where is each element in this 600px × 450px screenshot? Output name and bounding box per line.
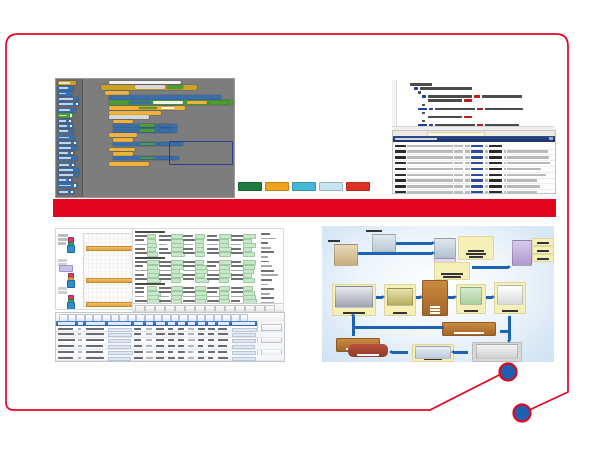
code-block[interactable] (105, 91, 129, 95)
node-label-terminal (366, 230, 382, 232)
seat-tile[interactable] (317, 136, 327, 144)
log-segment (471, 150, 483, 152)
seat-tile[interactable] (264, 103, 274, 111)
block-socket[interactable] (153, 101, 183, 105)
block-socket[interactable] (159, 124, 171, 127)
seat-tile[interactable] (330, 78, 340, 86)
table-cell (86, 339, 104, 341)
block-socket[interactable] (187, 101, 207, 105)
seat-tile[interactable] (251, 78, 261, 86)
form-input-field[interactable] (219, 252, 231, 257)
palette-block[interactable] (58, 178, 72, 182)
palette-block[interactable] (58, 81, 76, 85)
seat-tile[interactable] (291, 120, 301, 128)
seat-tile[interactable] (317, 103, 327, 111)
log-segment (395, 162, 406, 164)
table-cell (86, 351, 103, 353)
seat-tile[interactable] (278, 144, 288, 152)
seat-tile[interactable] (330, 144, 340, 152)
form-input-field[interactable] (219, 278, 229, 283)
form-field-label (135, 296, 144, 298)
seat-tile[interactable] (264, 78, 274, 86)
code-block[interactable] (113, 128, 177, 132)
seat-tile[interactable] (357, 120, 367, 128)
close-icon[interactable] (549, 137, 553, 140)
code-token (477, 108, 483, 111)
palette-block[interactable] (58, 97, 79, 101)
flow-arrow-head (420, 295, 423, 299)
table-cell (146, 333, 152, 335)
seat-tile[interactable] (304, 161, 314, 169)
panel-form-grid[interactable] (132, 228, 284, 312)
table-cell (78, 328, 81, 330)
palette-block-label (59, 157, 71, 159)
seat-tile[interactable] (357, 144, 367, 152)
form-toolbar-button[interactable] (245, 305, 255, 312)
seat-tile[interactable] (278, 103, 288, 111)
seat-tile[interactable] (291, 169, 301, 177)
seat-tile[interactable] (238, 95, 248, 103)
table-cell (156, 345, 164, 347)
log-segment (407, 156, 453, 158)
seat-tile[interactable] (304, 169, 314, 177)
table-cell (208, 328, 215, 330)
log-segment (504, 156, 506, 158)
seat-tile[interactable] (251, 86, 261, 94)
palette-block[interactable] (58, 156, 77, 160)
log-segment (489, 168, 502, 170)
form-input-field[interactable] (243, 278, 255, 283)
seat-tile[interactable] (344, 128, 354, 136)
block-socket[interactable] (129, 101, 151, 105)
seat-tile[interactable] (251, 153, 261, 161)
seat-tile[interactable] (264, 144, 274, 152)
blocks-palette[interactable] (56, 79, 83, 197)
seat-tile[interactable] (370, 169, 380, 177)
table-cell (78, 345, 82, 347)
seat-tile[interactable] (278, 95, 288, 103)
form-toolbar-button[interactable] (195, 305, 205, 312)
block-socket[interactable] (139, 129, 155, 132)
log-segment (395, 179, 406, 181)
seat-tile[interactable] (330, 161, 340, 169)
seat-tile[interactable] (370, 111, 380, 119)
block-socket[interactable] (139, 143, 155, 146)
panel-log-console[interactable] (392, 130, 556, 194)
node-shelving-rack[interactable] (512, 240, 532, 266)
node-label (502, 310, 518, 312)
node-order-notice-card[interactable] (458, 236, 494, 260)
seat-tile[interactable] (304, 103, 314, 111)
node-label (466, 253, 486, 255)
form-toolbar-button[interactable] (175, 305, 185, 312)
seat-tile[interactable] (304, 111, 314, 119)
panel-seat-status-grid[interactable] (238, 78, 386, 178)
log-segment (454, 145, 463, 147)
log-segment (489, 162, 502, 164)
palette-block[interactable] (58, 141, 77, 145)
node-label (441, 273, 463, 275)
palette-block[interactable] (58, 113, 73, 117)
log-segment (471, 174, 483, 176)
seat-tile[interactable] (238, 78, 248, 86)
seat-tile[interactable] (238, 128, 248, 136)
seat-tile[interactable] (278, 169, 288, 177)
seat-tile[interactable] (278, 153, 288, 161)
seat-tile[interactable] (238, 120, 248, 128)
code-block[interactable] (109, 111, 161, 115)
form-toolbar-button[interactable] (205, 305, 215, 312)
seat-tile[interactable] (317, 161, 327, 169)
form-field-label (135, 235, 147, 237)
node-receiving-system-a[interactable] (434, 238, 456, 258)
palette-block[interactable] (58, 163, 75, 167)
palette-block[interactable] (58, 168, 79, 172)
seat-tile[interactable] (330, 111, 340, 119)
node-warehouse-notice-card[interactable] (434, 262, 470, 280)
table-cell (156, 333, 165, 335)
seat-tile[interactable] (238, 136, 248, 144)
seat-tile[interactable] (370, 78, 380, 86)
node-order-terminal[interactable] (372, 234, 396, 252)
seat-tile[interactable] (251, 103, 261, 111)
seat-tile[interactable] (291, 86, 301, 94)
form-toolbar-button[interactable] (165, 305, 175, 312)
seat-tile[interactable] (291, 153, 301, 161)
seat-tile[interactable] (357, 86, 367, 94)
block-socket[interactable] (139, 157, 155, 160)
seat-tile[interactable] (251, 136, 261, 144)
node-quality-clip[interactable] (460, 287, 482, 305)
form-input-field[interactable] (243, 252, 255, 257)
gantt-node-marker[interactable] (67, 302, 75, 310)
node-rack-label-b[interactable] (532, 246, 554, 254)
node-forklift-clip[interactable] (387, 288, 413, 306)
seat-tile[interactable] (317, 120, 327, 128)
block-socket[interactable] (209, 101, 229, 105)
gantt-node-marker[interactable] (67, 280, 75, 288)
seat-tile[interactable] (370, 161, 380, 169)
seat-tile[interactable] (317, 86, 327, 94)
block-socket[interactable] (135, 85, 165, 88)
palette-block[interactable] (58, 173, 79, 177)
code-block[interactable] (109, 106, 185, 110)
seat-tile[interactable] (317, 128, 327, 136)
table-row[interactable] (56, 361, 284, 362)
node-barcode-clip[interactable] (497, 285, 523, 305)
form-toolbar-button[interactable] (145, 305, 155, 312)
code-block[interactable] (109, 162, 149, 166)
block-socket[interactable] (167, 85, 183, 88)
gantt-node-marker[interactable] (67, 245, 75, 253)
seat-tile[interactable] (251, 144, 261, 152)
palette-block[interactable] (58, 135, 75, 139)
table-cell (78, 351, 82, 353)
code-block[interactable] (113, 124, 177, 128)
form-summary-line (261, 270, 274, 272)
code-block[interactable] (109, 95, 221, 99)
seat-tile[interactable] (264, 86, 274, 94)
code-block[interactable] (101, 85, 197, 90)
palette-block[interactable] (58, 108, 76, 112)
seat-tile[interactable] (370, 153, 380, 161)
flow-arrow-head (432, 251, 435, 255)
node-barcode-scan-clip[interactable] (476, 344, 518, 359)
seat-tile[interactable] (370, 86, 380, 94)
code-block[interactable] (109, 133, 137, 137)
form-toolbar-button[interactable] (155, 305, 165, 312)
seat-tile[interactable] (291, 161, 301, 169)
seat-tile[interactable] (291, 136, 301, 144)
log-segment (507, 185, 540, 187)
form-summary-line (261, 293, 270, 295)
log-segment (504, 162, 506, 164)
form-summary-line (261, 284, 268, 286)
seat-tile[interactable] (238, 161, 248, 169)
seat-tile[interactable] (330, 86, 340, 94)
palette-block[interactable] (58, 86, 74, 90)
seat-tile[interactable] (330, 169, 340, 177)
seat-tile[interactable] (344, 144, 354, 152)
gantt-rail-label (58, 291, 67, 294)
seat-tile[interactable] (238, 153, 248, 161)
table-cell (218, 339, 228, 341)
seat-tile[interactable] (344, 103, 354, 111)
seat-tile[interactable] (278, 111, 288, 119)
block-socket[interactable] (139, 124, 155, 127)
seat-tile[interactable] (304, 136, 314, 144)
seat-tile[interactable] (238, 111, 248, 119)
seat-tile[interactable] (370, 136, 380, 144)
block-socket[interactable] (159, 129, 171, 132)
seat-tile[interactable] (370, 144, 380, 152)
seat-tile[interactable] (330, 103, 340, 111)
node-supplier-desk[interactable] (334, 244, 358, 266)
seat-tile[interactable] (317, 95, 327, 103)
form-summary-line (261, 242, 268, 244)
node-label (454, 332, 484, 334)
form-field-label (207, 291, 217, 293)
log-segment (395, 145, 406, 147)
column-header (108, 322, 131, 324)
code-block[interactable] (109, 81, 181, 84)
node-nonconforming-zone[interactable] (442, 322, 496, 336)
palette-block[interactable] (58, 124, 73, 128)
block-socket[interactable] (139, 107, 157, 110)
column-header (86, 322, 105, 324)
seat-tile[interactable] (278, 128, 288, 136)
code-block[interactable] (109, 100, 233, 105)
form-field-label (135, 239, 144, 241)
flow-arrow (392, 351, 408, 354)
seat-tile[interactable] (251, 128, 261, 136)
log-segment (407, 162, 453, 164)
form-toolbar-button[interactable] (185, 305, 195, 312)
palette-block[interactable] (58, 146, 77, 150)
seat-tile[interactable] (330, 95, 340, 103)
seat-tile[interactable] (344, 95, 354, 103)
seat-tile[interactable] (251, 95, 261, 103)
seat-tile[interactable] (291, 95, 301, 103)
seat-tile[interactable] (357, 136, 367, 144)
column-header (208, 322, 215, 324)
code-block[interactable] (109, 148, 135, 152)
seat-tile[interactable] (304, 144, 314, 152)
palette-block[interactable] (58, 129, 74, 133)
seat-tile[interactable] (264, 111, 274, 119)
seat-tile[interactable] (317, 153, 327, 161)
flow-arrow-head (382, 295, 385, 299)
log-segment (504, 185, 506, 187)
seat-tile[interactable] (357, 111, 367, 119)
seat-tile[interactable] (304, 86, 314, 94)
palette-block[interactable] (58, 119, 72, 123)
blocks-canvas[interactable] (83, 79, 234, 197)
seat-tile[interactable] (264, 169, 274, 177)
seat-tile[interactable] (344, 86, 354, 94)
form-section-header (135, 257, 165, 259)
seat-tile[interactable] (344, 136, 354, 144)
palette-block[interactable] (58, 183, 77, 187)
seat-tile[interactable] (264, 153, 274, 161)
seat-tile[interactable] (264, 128, 274, 136)
form-field-label (135, 291, 144, 293)
block-socket[interactable] (161, 107, 175, 110)
seat-tile[interactable] (278, 78, 288, 86)
form-toolbar-button[interactable] (255, 305, 265, 312)
log-row[interactable] (393, 189, 555, 194)
seat-tile[interactable] (238, 144, 248, 152)
seat-tile[interactable] (357, 161, 367, 169)
palette-block-label (59, 115, 67, 117)
seat-tile[interactable] (304, 78, 314, 86)
column-header (78, 322, 83, 324)
code-block[interactable] (109, 115, 149, 119)
form-toolbar-button[interactable] (225, 305, 235, 312)
seat-tile[interactable] (330, 153, 340, 161)
code-block[interactable] (113, 120, 133, 124)
node-rack-label-c[interactable] (532, 254, 554, 262)
palette-block[interactable] (58, 102, 79, 106)
seat-tile[interactable] (370, 128, 380, 136)
seat-tile[interactable] (344, 169, 354, 177)
palette-block-label (59, 179, 66, 181)
seat-tile[interactable] (291, 78, 301, 86)
palette-block-label (59, 87, 68, 89)
seat-tile[interactable] (344, 78, 354, 86)
seat-tile[interactable] (330, 136, 340, 144)
seat-tile[interactable] (317, 169, 327, 177)
seat-tile[interactable] (238, 86, 248, 94)
code-token (428, 95, 472, 98)
seat-tile[interactable] (344, 161, 354, 169)
seat-tile[interactable] (370, 95, 380, 103)
palette-block[interactable] (58, 91, 72, 95)
node-rack-label-a[interactable] (532, 238, 554, 246)
seat-tile[interactable] (304, 153, 314, 161)
log-segment (507, 162, 550, 164)
seat-tile[interactable] (264, 136, 274, 144)
node-inbound-complete[interactable] (348, 344, 388, 357)
seat-tile[interactable] (344, 153, 354, 161)
seat-tile[interactable] (357, 169, 367, 177)
seat-tile[interactable] (238, 169, 248, 177)
seat-tile[interactable] (330, 128, 340, 136)
seat-tile[interactable] (264, 161, 274, 169)
seat-tile[interactable] (264, 120, 274, 128)
palette-block[interactable] (58, 151, 74, 155)
seat-tile[interactable] (370, 103, 380, 111)
panel-data-grid[interactable] (55, 312, 285, 362)
palette-block-label (59, 109, 70, 111)
seat-tile[interactable] (291, 111, 301, 119)
seat-tile[interactable] (238, 103, 248, 111)
panel-flow-diagram[interactable] (322, 226, 554, 362)
form-input-field[interactable] (195, 252, 205, 257)
form-field-label (231, 248, 241, 250)
form-input-field[interactable] (171, 278, 181, 283)
form-toolbar-button[interactable] (135, 305, 145, 312)
seat-tile[interactable] (278, 120, 288, 128)
palette-block[interactable] (58, 190, 74, 194)
seat-tile[interactable] (357, 128, 367, 136)
seat-tile[interactable] (291, 103, 301, 111)
seat-tile[interactable] (344, 111, 354, 119)
seat-tile[interactable] (251, 120, 261, 128)
seat-tile[interactable] (304, 95, 314, 103)
form-input-field[interactable] (147, 252, 158, 257)
seat-tile[interactable] (357, 95, 367, 103)
node-truck-clip[interactable] (335, 286, 373, 308)
seat-tile[interactable] (370, 120, 380, 128)
seat-tile[interactable] (317, 111, 327, 119)
seat-tile[interactable] (291, 128, 301, 136)
seat-tile[interactable] (304, 128, 314, 136)
form-toolbar-button[interactable] (265, 305, 275, 312)
seat-tile[interactable] (264, 95, 274, 103)
seat-tile[interactable] (317, 144, 327, 152)
form-field-label (183, 239, 195, 241)
form-toolbar[interactable] (133, 303, 283, 311)
seat-tile[interactable] (251, 111, 261, 119)
panel-code-editor[interactable] (392, 80, 554, 130)
seat-tile[interactable] (304, 120, 314, 128)
seat-tile[interactable] (330, 120, 340, 128)
palette-block-label (59, 137, 69, 139)
log-segment (471, 179, 483, 181)
seat-tile[interactable] (291, 144, 301, 152)
seat-tile[interactable] (357, 78, 367, 86)
seat-tile[interactable] (317, 78, 327, 86)
seat-tile[interactable] (278, 86, 288, 94)
seat-tile[interactable] (278, 136, 288, 144)
table-cell (208, 357, 213, 359)
palette-block-label (59, 152, 68, 154)
seat-tile[interactable] (251, 161, 261, 169)
form-toolbar-button[interactable] (215, 305, 225, 312)
seat-tile[interactable] (357, 103, 367, 111)
node-putaway-clip[interactable] (415, 346, 451, 359)
node-inspection-cabinet[interactable] (422, 280, 448, 316)
seat-tile[interactable] (278, 161, 288, 169)
panel-blocks-editor[interactable] (55, 78, 235, 198)
seat-tile[interactable] (251, 169, 261, 177)
form-toolbar-button[interactable] (235, 305, 245, 312)
seat-tile[interactable] (357, 153, 367, 161)
node-label-supplier (328, 240, 340, 242)
seat-tile[interactable] (344, 120, 354, 128)
gantt-rail-label (58, 287, 67, 290)
